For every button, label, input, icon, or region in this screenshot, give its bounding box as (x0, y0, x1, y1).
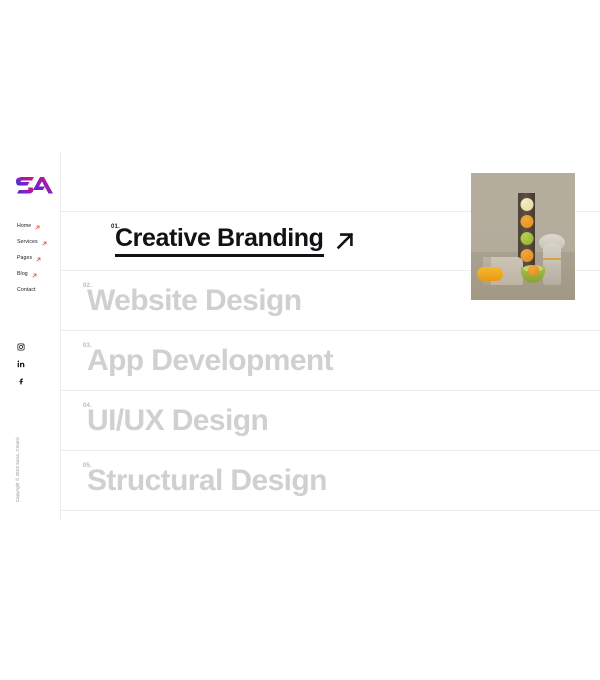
sidebar-item-label: Contact (17, 288, 36, 293)
arrow-up-right-icon (36, 257, 41, 262)
preview-disc-green (520, 232, 533, 245)
sidebar-item-contact[interactable]: Contact (17, 283, 61, 299)
social-links (17, 343, 25, 385)
preview-disc-cream (520, 198, 533, 211)
service-title: App Development (87, 346, 333, 376)
service-number: 01. (61, 224, 115, 230)
sidebar-item-label: Services (17, 240, 38, 245)
sidebar-item-home[interactable]: Home (17, 219, 61, 235)
sidebar-item-label: Pages (17, 256, 32, 261)
instagram-icon[interactable] (17, 343, 25, 351)
service-number: 04. (61, 403, 87, 409)
copyright-label: Copyright © 2023 Sana, Creativ (15, 437, 20, 502)
service-number: 03. (61, 343, 87, 349)
preview-vase-body (543, 243, 561, 285)
sidebar-item-pages[interactable]: Pages (17, 251, 61, 267)
service-number: 02. (61, 283, 87, 289)
linkedin-icon[interactable] (17, 360, 25, 368)
service-number: 05. (61, 463, 87, 469)
preview-bowl-ball (528, 265, 539, 276)
sidebar-item-blog[interactable]: Blog (17, 267, 61, 283)
copyright-text: Copyright © 2023 Sana, Creativ (12, 425, 23, 515)
sidebar-item-label: Home (17, 224, 31, 229)
service-row-app-development[interactable]: 03. App Development (61, 331, 600, 391)
service-title: Creative Branding (115, 226, 324, 257)
service-title: Website Design (87, 286, 301, 316)
preview-scene (471, 173, 575, 300)
arrow-up-right-icon (42, 241, 47, 246)
preview-pill (477, 267, 503, 281)
preview-disc-orange-top (520, 215, 533, 228)
logo-sa[interactable] (14, 176, 54, 198)
sidebar-nav: Home Services Pages Blog Contact (17, 219, 61, 299)
arrow-up-right-icon[interactable] (334, 229, 358, 253)
sidebar-item-services[interactable]: Services (17, 235, 61, 251)
sidebar: Home Services Pages Blog Contact (0, 151, 60, 521)
arrow-up-right-icon (32, 273, 37, 278)
facebook-icon[interactable] (17, 377, 25, 385)
service-title: UI/UX Design (87, 406, 268, 436)
creative-branding-preview-image (471, 173, 575, 300)
service-row-ui-ux-design[interactable]: 04. UI/UX Design (61, 391, 600, 451)
sidebar-item-label: Blog (17, 272, 28, 277)
service-row-structural-design[interactable]: 05. Structural Design (61, 451, 600, 511)
service-title: Structural Design (87, 466, 327, 496)
preview-vase-band (543, 258, 561, 260)
preview-shelf (518, 193, 535, 267)
arrow-up-right-icon (35, 225, 40, 230)
